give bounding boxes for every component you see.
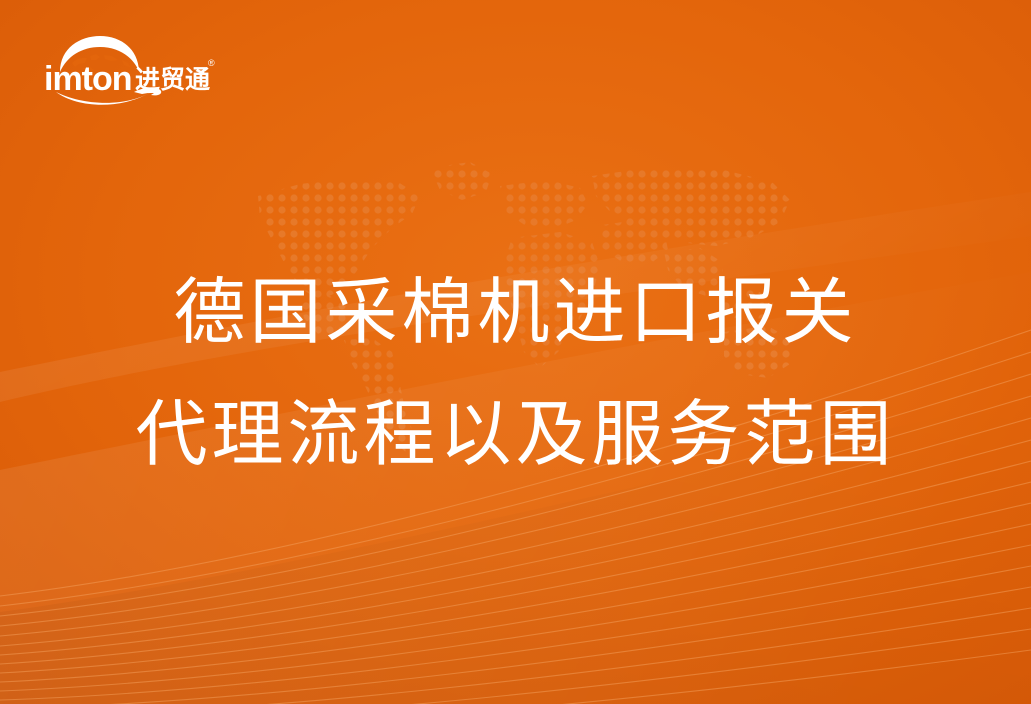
svg-text:®: ® (208, 58, 215, 68)
brand-logo[interactable]: imton 进贸通 ® imton 进贸通 ® (38, 30, 218, 106)
title-line-1: 德国采棉机进口报关 (0, 252, 1031, 374)
banner-canvas: imton 进贸通 ® imton 进贸通 ® 德国采棉机进口报关 代理流程以及… (0, 0, 1031, 704)
svg-text:imton: imton (44, 60, 132, 98)
title-line-2: 代理流程以及服务范围 (0, 374, 1031, 496)
svg-text:进贸通: 进贸通 (135, 66, 210, 94)
page-title: 德国采棉机进口报关 代理流程以及服务范围 (0, 252, 1031, 496)
